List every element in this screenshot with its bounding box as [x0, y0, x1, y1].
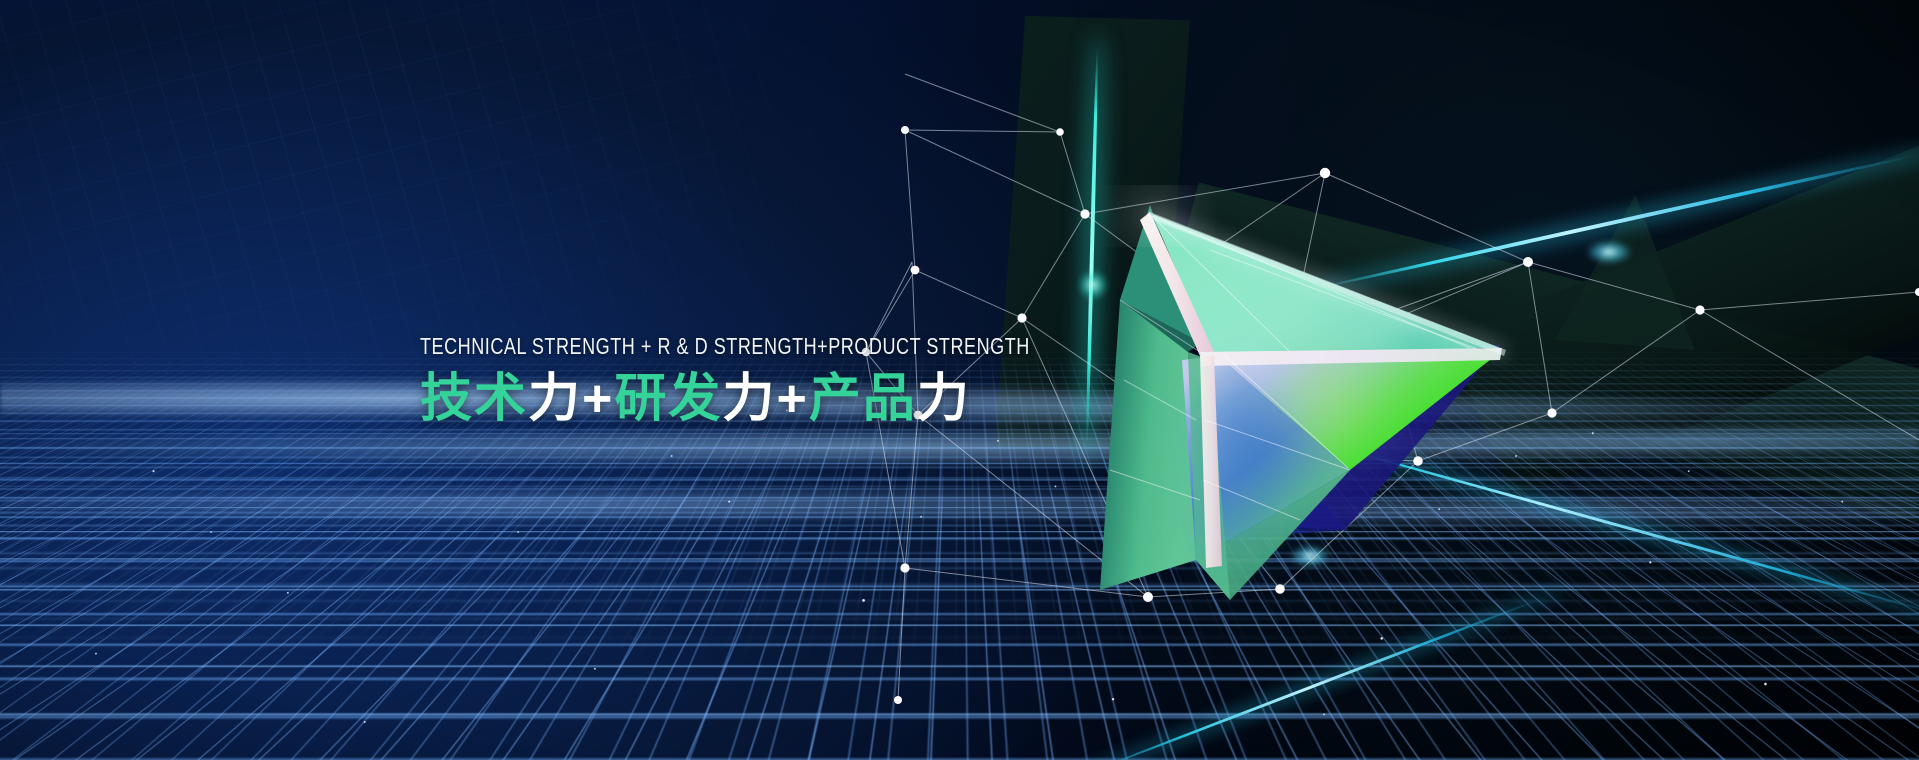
headline-part-0: 技术: [420, 370, 528, 428]
headline-part-6: 产品: [809, 370, 917, 428]
headline-part-5: +: [776, 370, 808, 428]
headline-part-1: 力: [528, 370, 582, 428]
headline-part-4: 力: [722, 370, 776, 428]
headline-part-3: 研发: [614, 370, 722, 428]
hero-headline: 技术力+研发力+产品力: [420, 373, 1129, 425]
prism-apex-bloom: [1132, 202, 1184, 230]
headline-part-2: +: [582, 370, 614, 428]
hero-eyebrow: TECHNICAL STRENGTH + R & D STRENGTH+PROD…: [420, 335, 1030, 359]
hero-banner: TECHNICAL STRENGTH + R & D STRENGTH+PROD…: [0, 0, 1919, 760]
headline-part-7: 力: [917, 370, 971, 428]
hero-copy: TECHNICAL STRENGTH + R & D STRENGTH+PROD…: [420, 336, 1129, 425]
